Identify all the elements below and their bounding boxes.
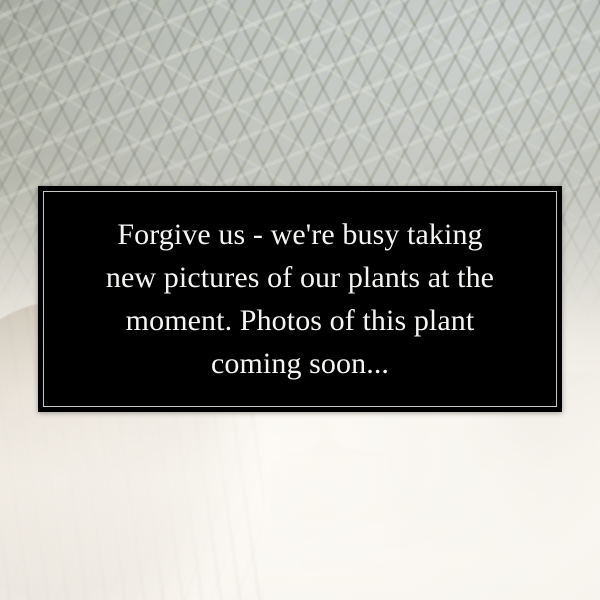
notice-plaque: Forgive us - we're busy taking new pictu… [38,186,562,412]
placeholder-image: Forgive us - we're busy taking new pictu… [0,0,600,600]
notice-message: Forgive us - we're busy taking new pictu… [106,213,494,386]
notice-plaque-frame: Forgive us - we're busy taking new pictu… [43,191,557,407]
